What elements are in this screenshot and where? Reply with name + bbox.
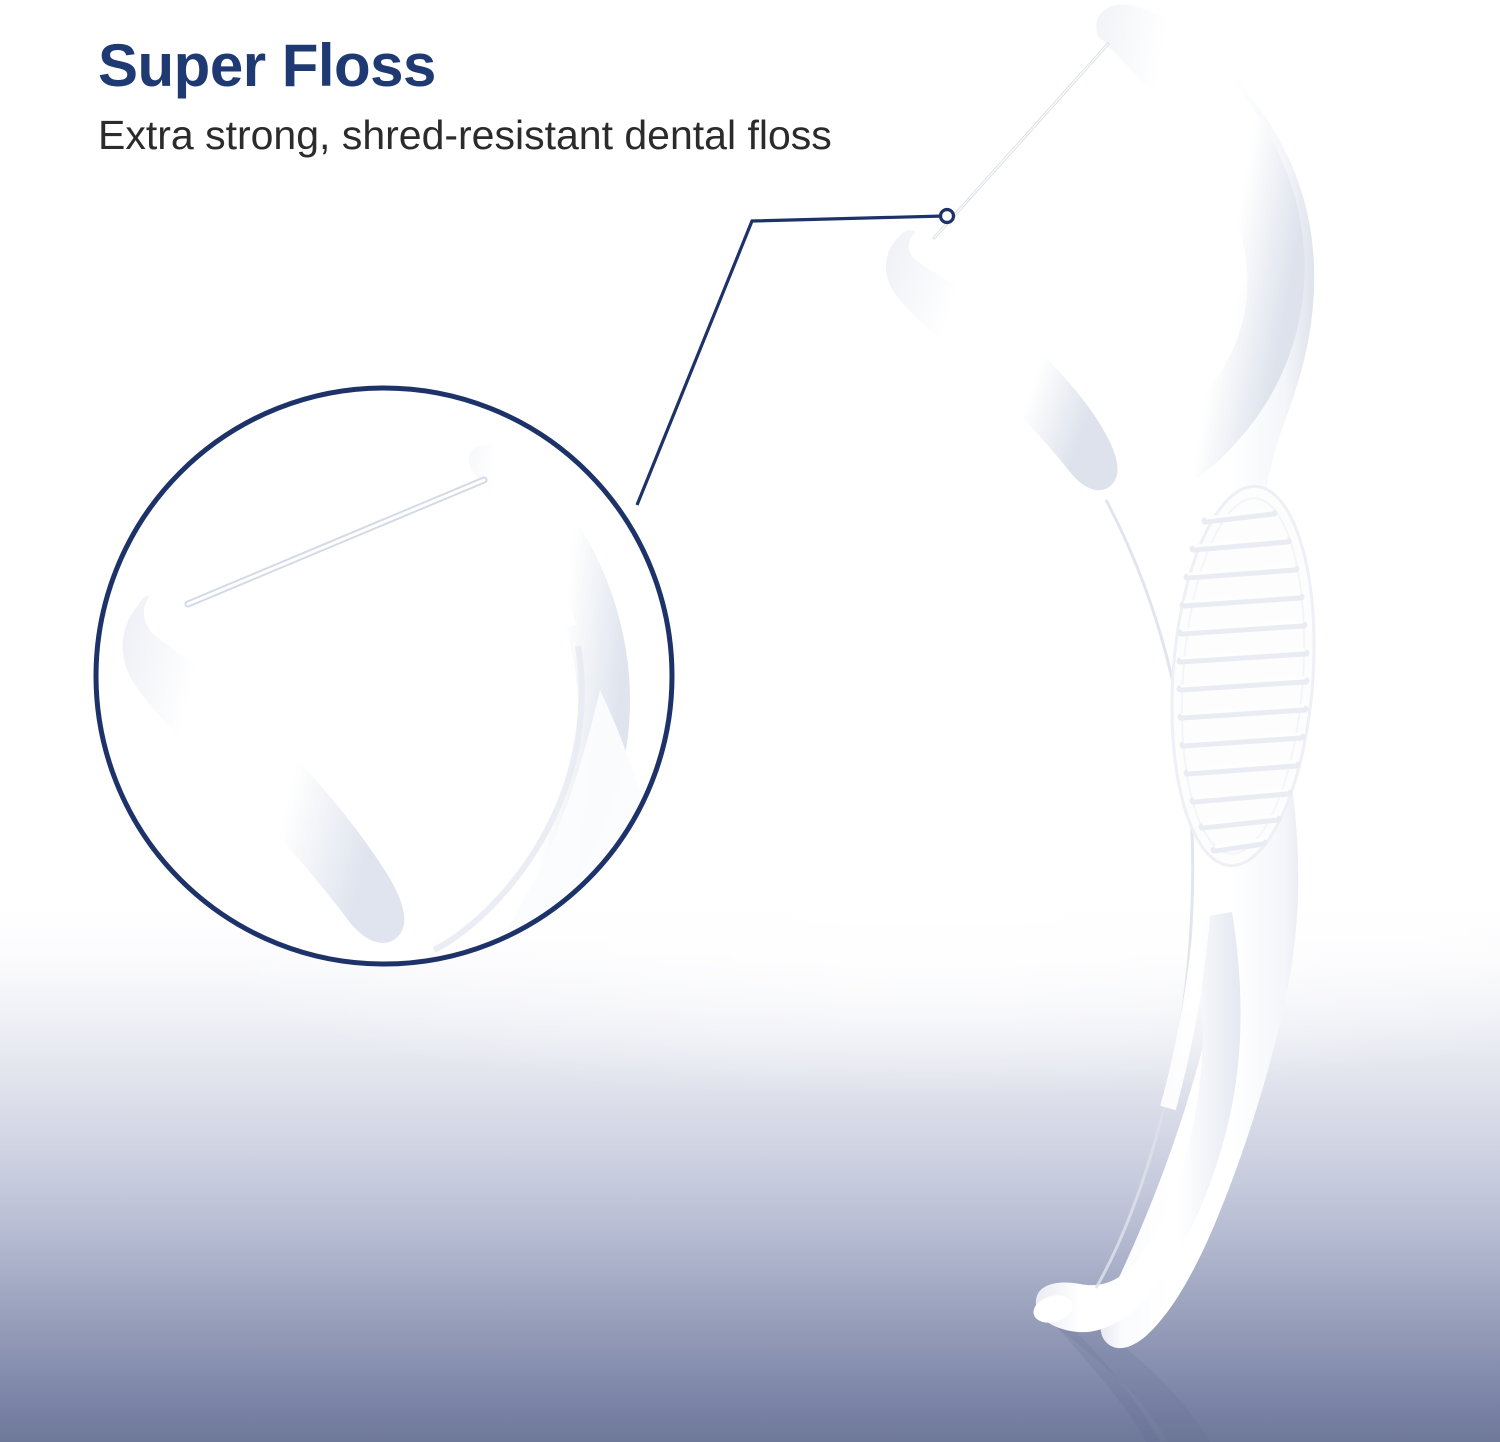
page-subtitle: Extra strong, shred-resistant dental flo…	[98, 110, 898, 161]
headline-block: Super Floss Extra strong, shred-resistan…	[98, 36, 918, 161]
page-title: Super Floss	[98, 36, 918, 96]
product-feature-image: Super Floss Extra strong, shred-resistan…	[0, 0, 1500, 1442]
background-gradient	[0, 0, 1500, 1442]
